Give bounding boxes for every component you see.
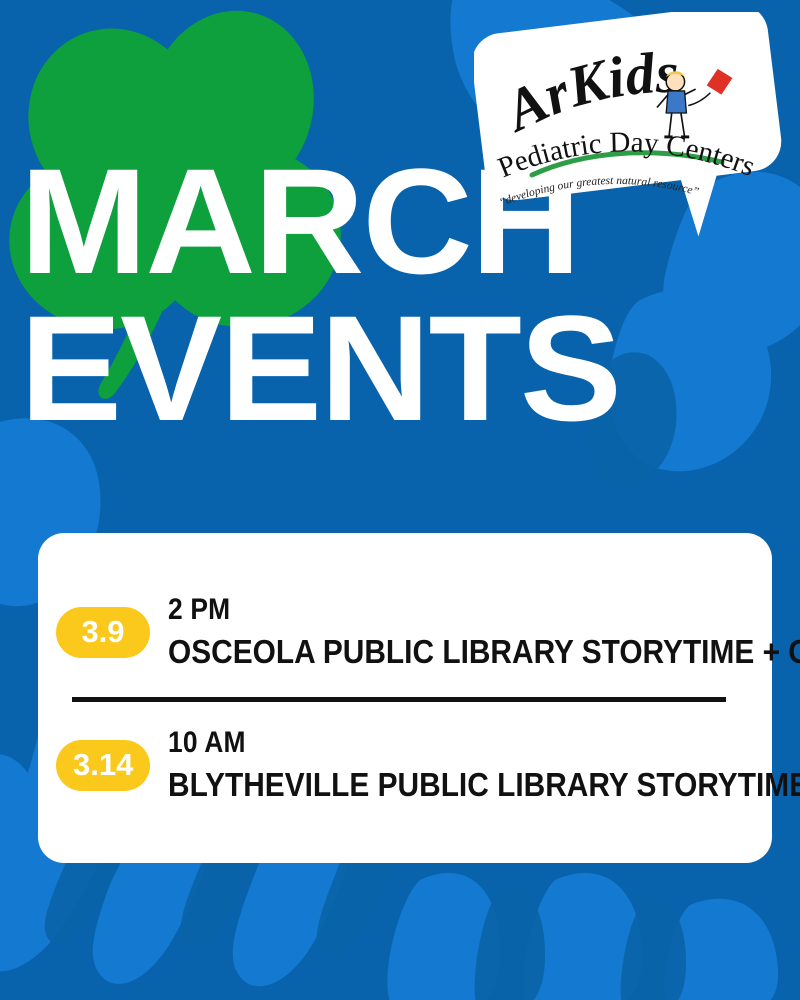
event-details: 2 PM OSCEOLA PUBLIC LIBRARY STORYTIME + …: [150, 593, 800, 673]
event-details: 10 AM BLYTHEVILLE PUBLIC LIBRARY STORYTI…: [150, 726, 800, 806]
event-date-badge: 3.9: [56, 607, 150, 658]
event-name: BLYTHEVILLE PUBLIC LIBRARY STORYTIME + C…: [168, 764, 800, 805]
event-time: 2 PM: [168, 593, 800, 628]
march-events-poster: MARCH EVENTS ArKids: [0, 0, 800, 1000]
events-divider-wrap: [56, 697, 742, 702]
event-row[interactable]: 3.14 10 AM BLYTHEVILLE PUBLIC LIBRARY ST…: [56, 726, 742, 806]
event-row[interactable]: 3.9 2 PM OSCEOLA PUBLIC LIBRARY STORYTIM…: [56, 593, 742, 673]
arkids-logo-badge: ArKids Pediatric Day Centers “developing…: [474, 12, 784, 242]
events-card: 3.9 2 PM OSCEOLA PUBLIC LIBRARY STORYTIM…: [38, 533, 772, 863]
events-divider: [72, 697, 726, 702]
event-date-badge: 3.14: [56, 740, 150, 791]
event-time: 10 AM: [168, 726, 800, 761]
title-line-events: EVENTS: [20, 295, 632, 442]
event-name: OSCEOLA PUBLIC LIBRARY STORYTIME + CRAFT: [168, 631, 800, 672]
